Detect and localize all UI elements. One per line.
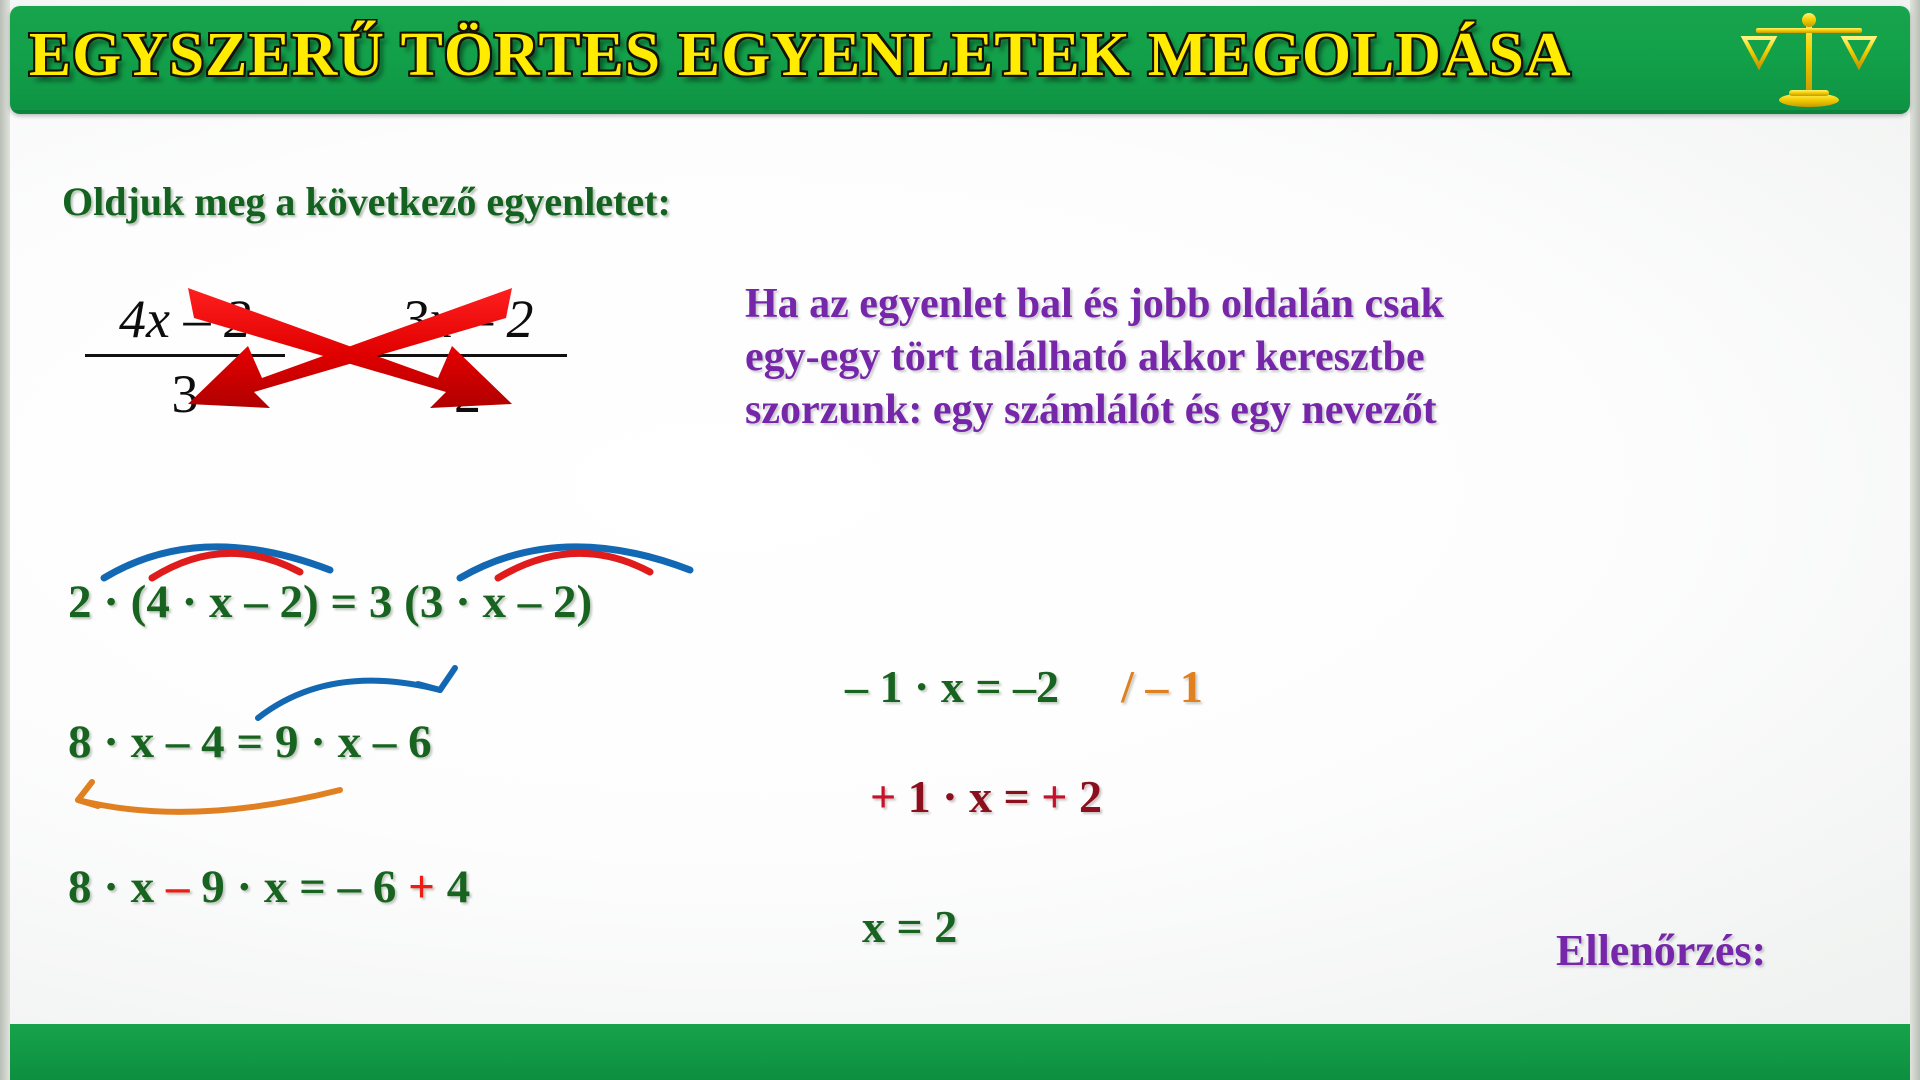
blue-arrow-curve-expanded <box>258 681 440 718</box>
blue-arrow-head-expanded <box>418 668 455 690</box>
rule-explanation: Ha az egyenlet bal és jobb oldalán csak … <box>745 278 1855 437</box>
reduce-divider-note: / – 1 <box>1121 661 1203 712</box>
collect-part-3: 4 <box>447 861 471 913</box>
balance-scales-icon <box>1734 8 1884 114</box>
signflip-rhs-value: 2 <box>1079 771 1102 822</box>
check-label: Ellenőrzés: <box>1556 925 1766 976</box>
rule-line-3: szorzunk: egy számlálót és egy nevezőt <box>745 384 1855 437</box>
frame-edge-right <box>1910 0 1920 1080</box>
slide-root: EGYSZERŰ TÖRTES EGYENLETEK MEGOLDÁSA Old… <box>0 0 1920 1080</box>
rule-line-2: egy-egy tört található akkor keresztbe <box>745 331 1855 384</box>
slide-header: EGYSZERŰ TÖRTES EGYENLETEK MEGOLDÁSA <box>10 6 1910 114</box>
signflip-lhs: 1 · x = <box>908 771 1042 822</box>
fraction-right-denominator: 2 <box>442 357 493 425</box>
signflip-rhs-plus: + <box>1041 771 1079 822</box>
step-collect: 8 · x – 9 · x = – 6 + 4 <box>68 860 470 914</box>
fraction-equals-sign: = <box>311 326 341 388</box>
step-solution: x = 2 <box>862 900 957 953</box>
fraction-equation: 4x – 2 3 = 3x – 2 2 <box>85 288 567 425</box>
fraction-left-denominator: 3 <box>160 357 211 425</box>
step-reduce: – 1 · x = –2/ – 1 <box>845 660 1203 713</box>
fraction-left: 4x – 2 3 <box>85 288 285 425</box>
fraction-left-numerator: 4x – 2 <box>107 288 263 354</box>
fraction-right: 3x – 2 2 <box>367 288 567 425</box>
signflip-leading-plus: + <box>870 771 908 822</box>
step-expanded: 8 · x – 4 = 9 · x – 6 <box>68 715 432 769</box>
blue-arc-left-distribute <box>104 547 330 578</box>
reduce-equation: – 1 · x = –2 <box>845 661 1059 712</box>
rule-line-1: Ha az egyenlet bal és jobb oldalán csak <box>745 278 1855 331</box>
orange-arrow-curve-expanded <box>78 790 340 812</box>
collect-part-1: 8 · x <box>68 861 166 913</box>
blue-arc-right-distribute <box>460 547 690 578</box>
collect-plus-sign: + <box>408 861 447 913</box>
collect-minus-sign: – <box>166 861 201 913</box>
collect-part-2: 9 · x = – 6 <box>201 861 408 913</box>
slide-footer <box>10 1024 1910 1080</box>
page-title: EGYSZERŰ TÖRTES EGYENLETEK MEGOLDÁSA <box>29 20 1572 91</box>
fraction-right-numerator: 3x – 2 <box>389 288 545 354</box>
annotation-overlay <box>0 0 1920 1080</box>
frame-edge-left <box>0 0 10 1080</box>
step-distribute: 2 · (4 · x – 2) = 3 (3 · x – 2) <box>68 575 592 629</box>
orange-arrow-head-expanded <box>78 782 98 806</box>
step-sign-flip: + 1 · x = + 2 <box>870 770 1102 823</box>
lead-instruction: Oldjuk meg a következő egyenletet: <box>62 178 671 225</box>
